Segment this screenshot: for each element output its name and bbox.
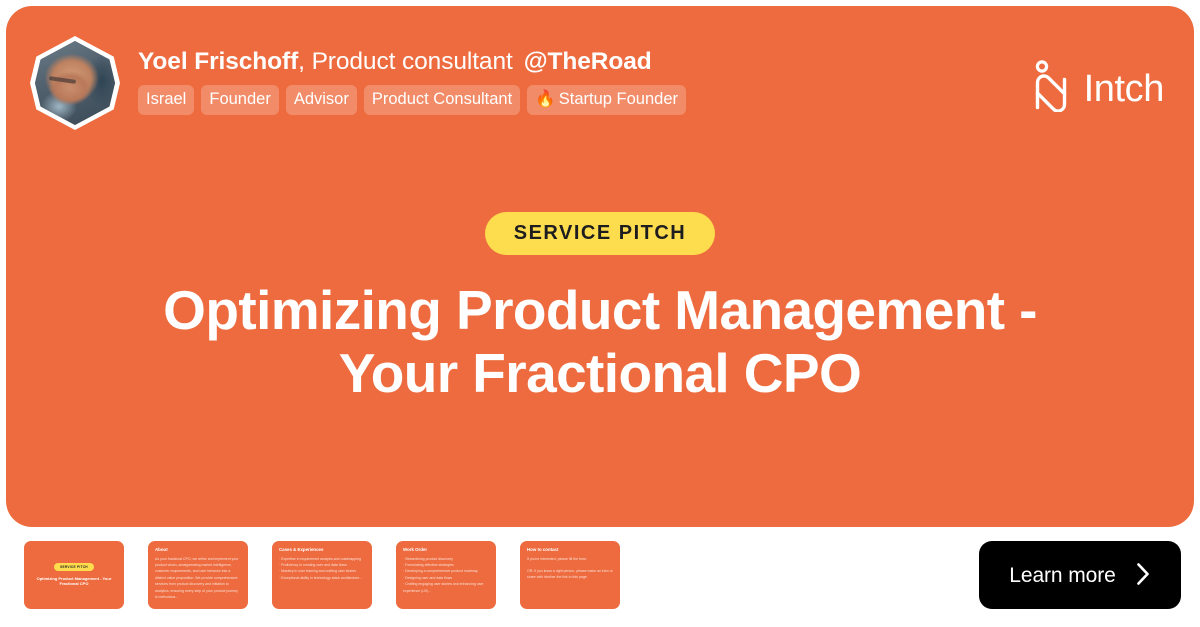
chevron-right-icon: [1136, 562, 1151, 589]
card-bullet: · Mastery in user framing and crafting u…: [279, 568, 365, 574]
card-body: As your fractional CPO, we refine and im…: [155, 556, 241, 601]
profile-name: Yoel Frischoff: [138, 48, 298, 75]
tag-startup-founder[interactable]: 🔥Startup Founder: [527, 85, 686, 115]
service-pitch-badge: SERVICE PITCH: [485, 212, 716, 255]
card-title: Cases & Experiences: [279, 547, 365, 553]
card-body: · Streamlining product discovery · Formu…: [403, 556, 489, 595]
thumbnail-slide-cover[interactable]: SERVICE PITCH Optimizing Product Managem…: [24, 541, 124, 609]
learn-more-button[interactable]: Learn more: [979, 541, 1181, 609]
profile-name-separator: ,: [298, 48, 311, 75]
card-body: · Expertise in requirement analysis and …: [279, 556, 365, 582]
mini-slide-title: Optimizing Product Management - Your Fra…: [32, 576, 116, 587]
card-bullet: · Developing a comprehensive product roa…: [403, 568, 489, 574]
card-bullet: · Expertise in requirement analysis and …: [279, 556, 365, 562]
tag-label: Advisor: [294, 90, 349, 108]
card-body: If you're interested, please fill the fo…: [527, 556, 613, 581]
card-bullet: · Exceptional ability in technology stac…: [279, 575, 365, 581]
tag-advisor[interactable]: Advisor: [286, 85, 357, 115]
learn-more-label: Learn more: [1009, 565, 1115, 586]
hero-panel: Yoel Frischoff, Product consultant@TheRo…: [6, 6, 1194, 527]
profile-header: Yoel Frischoff, Product consultant@TheRo…: [30, 36, 686, 130]
slide-thumbnail-strip: SERVICE PITCH Optimizing Product Managem…: [24, 541, 620, 609]
profile-text: Yoel Frischoff, Product consultant@TheRo…: [138, 49, 686, 116]
intch-wordmark: Intch: [1084, 70, 1164, 108]
card-bullet: · Crafting engaging user stories and enh…: [403, 581, 489, 594]
intch-n-mark-icon: [1033, 60, 1073, 117]
profile-role: Product consultant: [312, 48, 513, 75]
thumbnail-slide-about[interactable]: About As your fractional CPO, we refine …: [148, 541, 248, 609]
profile-name-line: Yoel Frischoff, Product consultant@TheRo…: [138, 49, 686, 76]
tag-label: Product Consultant: [372, 90, 512, 108]
card-title: About: [155, 547, 241, 553]
profile-tags: Israel Founder Advisor Product Consultan…: [138, 85, 686, 115]
page-title-line2: Your Fractional CPO: [339, 342, 861, 404]
tag-founder[interactable]: Founder: [201, 85, 278, 115]
profile-handle[interactable]: @TheRoad: [524, 48, 652, 75]
thumbnail-slide-how-to-contact[interactable]: How to contact If you're interested, ple…: [520, 541, 620, 609]
page-title: Optimizing Product Management - Your Fra…: [76, 279, 1124, 404]
thumbnail-slide-work-order[interactable]: Work Order · Streamlining product discov…: [396, 541, 496, 609]
thumbnail-slide-cases[interactable]: Cases & Experiences · Expertise in requi…: [272, 541, 372, 609]
tag-label: Founder: [209, 90, 270, 108]
avatar[interactable]: [30, 36, 120, 130]
hero-content: SERVICE PITCH Optimizing Product Managem…: [6, 212, 1194, 441]
tag-israel[interactable]: Israel: [138, 85, 194, 115]
page-title-line1: Optimizing Product Management -: [163, 279, 1037, 341]
tag-label: Israel: [146, 90, 186, 108]
tag-product-consultant[interactable]: Product Consultant: [364, 85, 520, 115]
intch-logo[interactable]: Intch: [1033, 60, 1164, 117]
card-title: Work Order: [403, 547, 489, 553]
card-title: How to contact: [527, 547, 613, 553]
mini-service-pitch-badge: SERVICE PITCH: [54, 563, 94, 571]
tag-label: Startup Founder: [559, 90, 678, 108]
card-bullet: OR: If you know a right person, please m…: [527, 568, 613, 581]
fire-icon: 🔥: [535, 90, 556, 108]
pitch-page: Yoel Frischoff, Product consultant@TheRo…: [0, 0, 1200, 627]
